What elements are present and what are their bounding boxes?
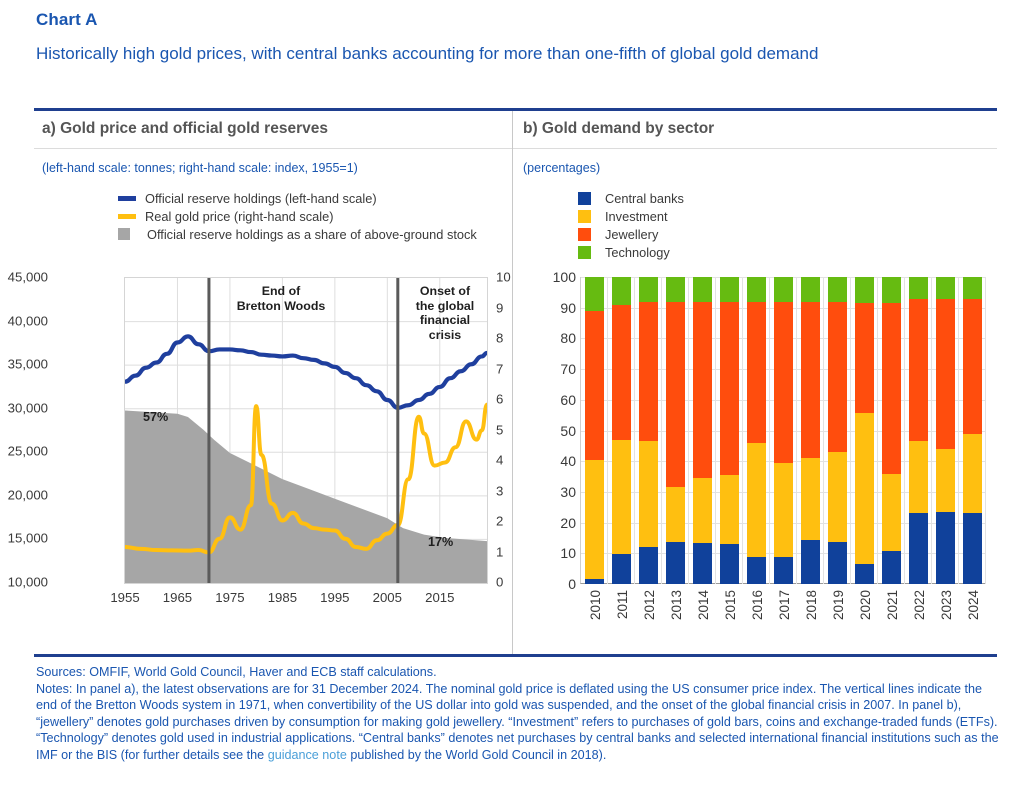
bar-column[interactable] <box>581 277 608 584</box>
y-axis-tick-left: 10,000 <box>0 575 48 590</box>
bar-segment[interactable] <box>855 564 874 584</box>
y-axis-tick: 90 <box>530 300 576 316</box>
bar-column[interactable] <box>905 277 932 584</box>
x-axis-tick: 1965 <box>163 590 192 605</box>
stacked-bar[interactable] <box>963 277 982 584</box>
bar-segment[interactable] <box>720 475 739 544</box>
bar-segment[interactable] <box>693 277 712 302</box>
y-axis-tick: 60 <box>530 392 576 408</box>
bar-segment[interactable] <box>828 302 847 452</box>
legend-label: Investment <box>605 209 668 224</box>
bar-segment[interactable] <box>639 547 658 584</box>
bar-segment[interactable] <box>801 302 820 459</box>
bar-column[interactable] <box>608 277 635 584</box>
bar-segment[interactable] <box>693 543 712 584</box>
y-axis-tick-left: 15,000 <box>0 531 48 546</box>
bar-segment[interactable] <box>585 579 604 584</box>
bar-segment[interactable] <box>909 277 928 298</box>
bar-segment[interactable] <box>774 302 793 464</box>
bar-segment[interactable] <box>963 513 982 584</box>
guidance-note-link[interactable]: guidance note <box>268 748 347 762</box>
annotation-share-end: 17% <box>428 535 453 549</box>
bar-segment[interactable] <box>855 277 874 303</box>
stacked-bar[interactable] <box>828 277 847 584</box>
bottom-rule <box>34 654 997 657</box>
annotation-gfc: Onset ofthe globalfinancialcrisis <box>408 284 482 342</box>
bar-column[interactable] <box>716 277 743 584</box>
bar-segment[interactable] <box>936 512 955 584</box>
bar-segment[interactable] <box>828 277 847 302</box>
stacked-bar[interactable] <box>612 277 631 584</box>
legend-swatch-icon <box>578 210 591 223</box>
bar-segment[interactable] <box>639 302 658 442</box>
bar-segment[interactable] <box>909 513 928 584</box>
notes-text-part2: published by the World Gold Council in 2… <box>347 748 607 762</box>
x-axis-tick: 2015 <box>425 590 454 605</box>
x-axis-tick: 2018 <box>804 590 819 620</box>
bar-segment[interactable] <box>855 303 874 413</box>
x-axis-tick: 2021 <box>885 590 900 620</box>
x-axis-tick: 2020 <box>858 590 873 620</box>
bar-segment[interactable] <box>612 440 631 555</box>
bar-segment[interactable] <box>585 311 604 460</box>
bar-segment[interactable] <box>882 474 901 551</box>
legend-swatch-icon <box>578 228 591 241</box>
bar-segment[interactable] <box>612 305 631 440</box>
bar-segment[interactable] <box>585 277 604 311</box>
bar-segment[interactable] <box>720 544 739 584</box>
bar-column[interactable] <box>662 277 689 584</box>
legend-swatch-icon <box>118 196 136 201</box>
x-axis-tick: 2015 <box>723 590 738 620</box>
panel-a-heading: a) Gold price and official gold reserves <box>42 120 328 138</box>
x-axis-tick: 2013 <box>669 590 684 620</box>
bar-segment[interactable] <box>936 277 955 298</box>
x-axis-tick: 2017 <box>777 590 792 620</box>
bar-column[interactable] <box>878 277 905 584</box>
stacked-bar[interactable] <box>801 277 820 584</box>
bar-segment[interactable] <box>666 277 685 302</box>
panel-b-legend: Central banksInvestmentJewelleryTechnolo… <box>578 189 684 261</box>
bar-segment[interactable] <box>693 302 712 479</box>
y-axis-tick-left: 40,000 <box>0 313 48 328</box>
y-axis-tick-left: 20,000 <box>0 487 48 502</box>
stacked-bar[interactable] <box>882 277 901 584</box>
annotation-share-start: 57% <box>143 410 168 424</box>
stacked-bar[interactable] <box>666 277 685 584</box>
bar-segment[interactable] <box>801 458 820 540</box>
panel-b-chart: 0102030405060708090100 20102011201220132… <box>520 270 1020 645</box>
x-axis-tick: 2023 <box>939 590 954 620</box>
chart-page: Chart A Historically high gold prices, w… <box>0 0 1031 786</box>
bar-segment[interactable] <box>612 277 631 305</box>
legend-item: Central banks <box>578 189 684 207</box>
bar-column[interactable] <box>959 277 986 584</box>
legend-swatch-icon <box>118 214 136 219</box>
x-axis-tick: 2019 <box>831 590 846 620</box>
legend-item: Real gold price (right-hand scale) <box>118 207 477 225</box>
legend-swatch-icon <box>578 246 591 259</box>
legend-item: Technology <box>578 243 684 261</box>
y-axis-tick-left: 25,000 <box>0 444 48 459</box>
bar-segment[interactable] <box>639 277 658 302</box>
legend-item: Jewellery <box>578 225 684 243</box>
bar-segment[interactable] <box>666 487 685 542</box>
bar-segment[interactable] <box>774 277 793 302</box>
y-axis-tick: 40 <box>530 453 576 469</box>
panel-divider <box>512 111 513 654</box>
bar-column[interactable] <box>689 277 716 584</box>
bar-column[interactable] <box>824 277 851 584</box>
stacked-bar[interactable] <box>747 277 766 584</box>
bar-column[interactable] <box>635 277 662 584</box>
stacked-bar[interactable] <box>855 277 874 584</box>
bar-segment[interactable] <box>909 299 928 442</box>
bar-segment[interactable] <box>693 478 712 543</box>
annotation-bretton-woods: End ofBretton Woods <box>221 284 341 313</box>
bar-segment[interactable] <box>801 277 820 302</box>
bar-column[interactable] <box>770 277 797 584</box>
y-axis-tick: 70 <box>530 361 576 377</box>
x-axis-tick: 2005 <box>373 590 402 605</box>
panel-a-legend: Official reserve holdings (left-hand sca… <box>118 189 477 243</box>
bar-column[interactable] <box>797 277 824 584</box>
y-axis-tick: 20 <box>530 515 576 531</box>
bar-segment[interactable] <box>963 434 982 514</box>
legend-label: Technology <box>605 245 670 260</box>
y-axis-tick: 80 <box>530 330 576 346</box>
bar-segment[interactable] <box>828 452 847 542</box>
bar-segment[interactable] <box>585 460 604 580</box>
bar-segment[interactable] <box>639 441 658 547</box>
panel-b-units: (percentages) <box>523 161 600 175</box>
bar-segment[interactable] <box>666 542 685 584</box>
bar-segment[interactable] <box>720 302 739 475</box>
legend-label: Real gold price (right-hand scale) <box>145 209 334 224</box>
stacked-bar[interactable] <box>720 277 739 584</box>
bar-segment[interactable] <box>882 303 901 473</box>
panel-a-chart: 10,00015,00020,00025,00030,00035,00040,0… <box>36 270 506 600</box>
legend-item: Investment <box>578 207 684 225</box>
panel-a-heading-rule <box>34 148 512 149</box>
bar-segment[interactable] <box>882 551 901 584</box>
legend-item: Official reserve holdings (left-hand sca… <box>118 189 477 207</box>
bar-column[interactable] <box>932 277 959 584</box>
x-axis-tick: 1985 <box>268 590 297 605</box>
stacked-bar[interactable] <box>693 277 712 584</box>
bar-segment[interactable] <box>909 441 928 513</box>
x-axis-tick: 2010 <box>588 590 603 620</box>
x-axis-tick: 1975 <box>215 590 244 605</box>
bar-segment[interactable] <box>936 449 955 513</box>
x-axis-tick: 2016 <box>750 590 765 620</box>
legend-label: Official reserve holdings (left-hand sca… <box>145 191 377 206</box>
bar-segment[interactable] <box>936 299 955 449</box>
bar-column[interactable] <box>851 277 878 584</box>
x-axis-tick: 2022 <box>912 590 927 620</box>
y-axis-tick: 50 <box>530 423 576 439</box>
stacked-bar[interactable] <box>774 277 793 584</box>
bar-segment[interactable] <box>882 277 901 303</box>
x-axis-tick: 2024 <box>966 590 981 620</box>
y-axis-tick-left: 30,000 <box>0 400 48 415</box>
bar-segment[interactable] <box>747 277 766 302</box>
chart-label: Chart A <box>36 10 97 30</box>
bar-segment[interactable] <box>855 413 874 564</box>
bar-segment[interactable] <box>612 554 631 584</box>
footer-notes: Sources: OMFIF, World Gold Council, Have… <box>36 664 1001 764</box>
bar-segment[interactable] <box>774 463 793 557</box>
legend-swatch-icon <box>578 192 591 205</box>
bar-segment[interactable] <box>963 299 982 434</box>
y-axis-tick-left: 35,000 <box>0 357 48 372</box>
x-axis-tick: 2011 <box>615 590 630 619</box>
y-axis-tick: 0 <box>530 576 576 592</box>
stacked-bar[interactable] <box>585 277 604 584</box>
legend-swatch-icon <box>118 228 130 240</box>
x-axis-tick: 1995 <box>320 590 349 605</box>
notes-line: Notes: In panel a), the latest observati… <box>36 681 1001 764</box>
y-axis-tick: 30 <box>530 484 576 500</box>
y-axis-tick: 10 <box>530 545 576 561</box>
panel-b-bars <box>581 277 986 584</box>
bar-column[interactable] <box>743 277 770 584</box>
bar-segment[interactable] <box>720 277 739 302</box>
legend-label: Official reserve holdings as a share of … <box>147 227 477 242</box>
bar-segment[interactable] <box>666 302 685 488</box>
panel-a-units: (left-hand scale: tonnes; right-hand sca… <box>42 161 358 175</box>
stacked-bar[interactable] <box>639 277 658 584</box>
sources-line: Sources: OMFIF, World Gold Council, Have… <box>36 664 1001 681</box>
legend-item: Official reserve holdings as a share of … <box>118 225 477 243</box>
bar-segment[interactable] <box>774 557 793 584</box>
legend-label: Jewellery <box>605 227 658 242</box>
x-axis-tick: 1955 <box>110 590 139 605</box>
chart-title: Historically high gold prices, with cent… <box>36 40 996 67</box>
bar-segment[interactable] <box>963 277 982 298</box>
stacked-bar[interactable] <box>936 277 955 584</box>
bar-segment[interactable] <box>801 540 820 584</box>
legend-label: Central banks <box>605 191 684 206</box>
panel-b-heading: b) Gold demand by sector <box>523 120 714 138</box>
x-axis-tick: 2014 <box>696 590 711 620</box>
bar-segment[interactable] <box>747 443 766 558</box>
bar-segment[interactable] <box>747 557 766 584</box>
bar-segment[interactable] <box>747 302 766 443</box>
top-rule <box>34 108 997 111</box>
bar-segment[interactable] <box>828 542 847 584</box>
y-axis-tick: 100 <box>530 269 576 285</box>
x-axis-tick: 2012 <box>642 590 657 620</box>
y-axis-tick-left: 45,000 <box>0 270 48 285</box>
panel-b-heading-rule <box>513 148 997 149</box>
stacked-bar[interactable] <box>909 277 928 584</box>
